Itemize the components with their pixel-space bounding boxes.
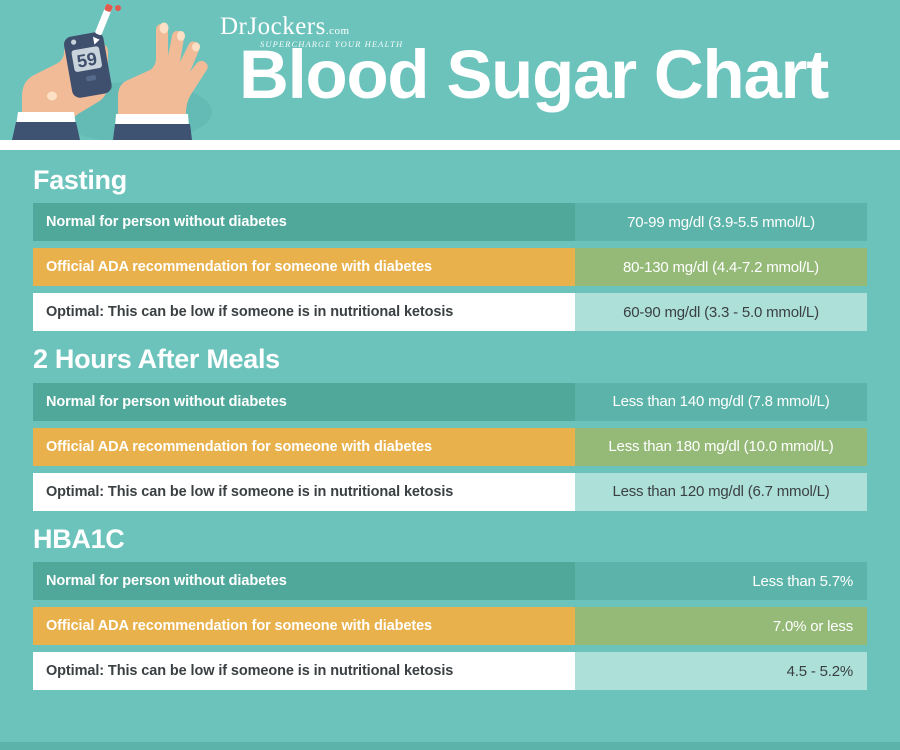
table-row: Optimal: This can be low if someone is i… <box>33 293 867 331</box>
header-divider <box>0 140 900 150</box>
row-label: Official ADA recommendation for someone … <box>33 428 575 466</box>
row-label: Normal for person without diabetes <box>33 383 575 421</box>
table-row: Official ADA recommendation for someone … <box>33 428 867 466</box>
table-row: Official ADA recommendation for someone … <box>33 248 867 286</box>
row-value: 4.5 - 5.2% <box>575 652 867 690</box>
row-label: Official ADA recommendation for someone … <box>33 248 575 286</box>
row-label: Optimal: This can be low if someone is i… <box>33 293 575 331</box>
section-title: Fasting <box>33 166 867 194</box>
table-row: Normal for person without diabetes 70-99… <box>33 203 867 241</box>
section-two-hours-after-meals: 2 Hours After Meals Normal for person wi… <box>33 345 867 510</box>
row-value: Less than 140 mg/dl (7.8 mmol/L) <box>575 383 867 421</box>
row-label: Normal for person without diabetes <box>33 562 575 600</box>
row-label: Optimal: This can be low if someone is i… <box>33 652 575 690</box>
page-title: Blood Sugar Chart <box>215 40 852 109</box>
section-fasting: Fasting Normal for person without diabet… <box>33 166 867 331</box>
row-value: 80-130 mg/dl (4.4-7.2 mmol/L) <box>575 248 867 286</box>
glucometer-reading: 59 <box>75 49 98 72</box>
table-row: Optimal: This can be low if someone is i… <box>33 473 867 511</box>
row-value: 7.0% or less <box>575 607 867 645</box>
footer-band <box>0 742 900 750</box>
row-value: 70-99 mg/dl (3.9-5.5 mmol/L) <box>575 203 867 241</box>
section-hba1c: HBA1C Normal for person without diabetes… <box>33 525 867 690</box>
section-title: HBA1C <box>33 525 867 553</box>
table-row: Normal for person without diabetes Less … <box>33 383 867 421</box>
row-value: Less than 120 mg/dl (6.7 mmol/L) <box>575 473 867 511</box>
blood-sugar-chart-infographic: 59 DrJockers.com SUPERCHARGE YOUR HEALTH… <box>0 0 900 750</box>
row-label: Optimal: This can be low if someone is i… <box>33 473 575 511</box>
header: 59 DrJockers.com SUPERCHARGE YOUR HEALTH… <box>0 0 900 140</box>
table-row: Normal for person without diabetes Less … <box>33 562 867 600</box>
section-title: 2 Hours After Meals <box>33 345 867 373</box>
row-label: Normal for person without diabetes <box>33 203 575 241</box>
table-row: Optimal: This can be low if someone is i… <box>33 652 867 690</box>
row-value: Less than 5.7% <box>575 562 867 600</box>
row-label: Official ADA recommendation for someone … <box>33 607 575 645</box>
row-value: Less than 180 mg/dl (10.0 mmol/L) <box>575 428 867 466</box>
row-value: 60-90 mg/dl (3.3 - 5.0 mmol/L) <box>575 293 867 331</box>
table-row: Official ADA recommendation for someone … <box>33 607 867 645</box>
header-text-block: DrJockers.com SUPERCHARGE YOUR HEALTH Bl… <box>215 0 852 140</box>
hands-holding-glucometer-illustration: 59 <box>0 0 230 140</box>
chart-content: Fasting Normal for person without diabet… <box>0 166 900 690</box>
